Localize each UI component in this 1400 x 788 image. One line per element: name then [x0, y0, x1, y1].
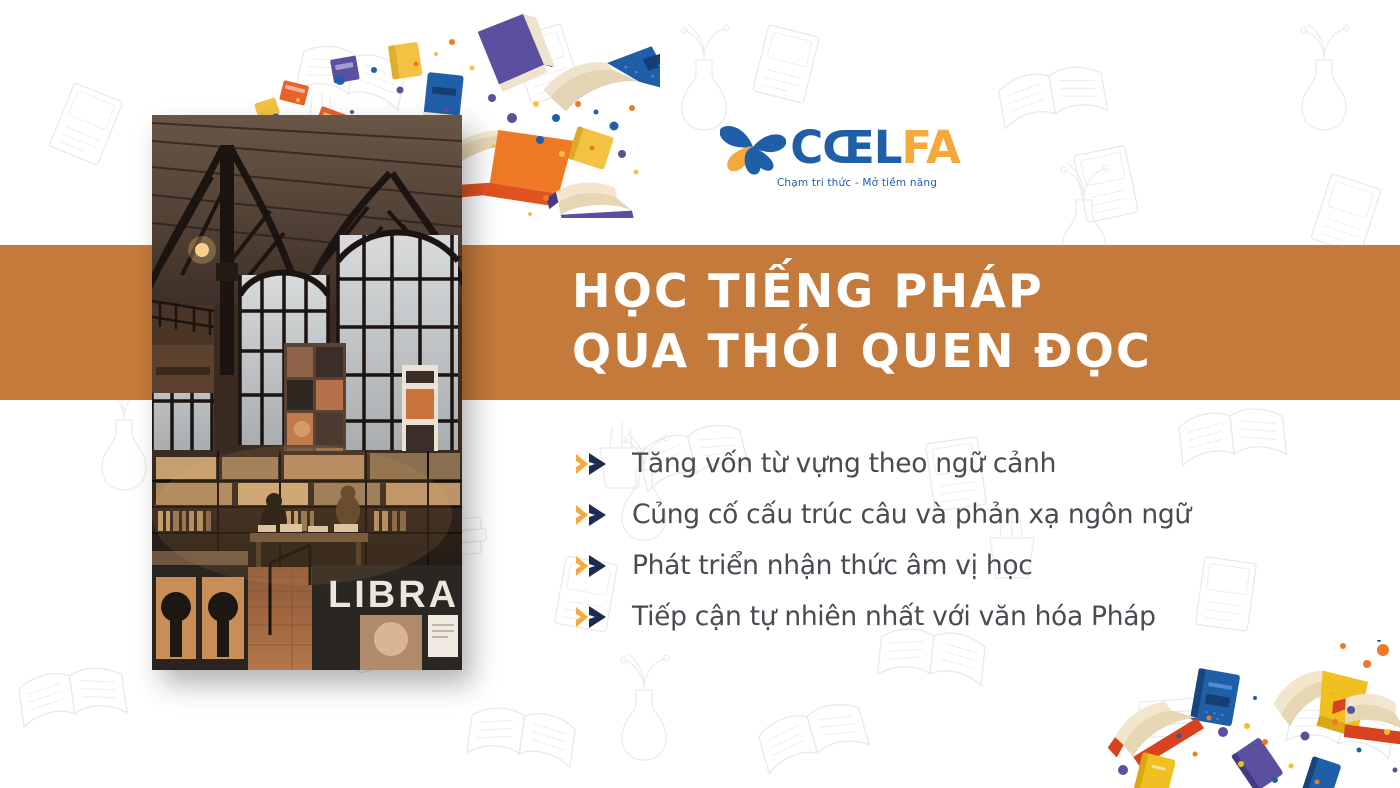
logo-tagline: Chạm tri thức - Mở tiềm năng: [777, 177, 937, 189]
celfa-logo[interactable]: CŒLFA Chạm tri thức - Mở tiềm năng: [730, 118, 950, 196]
double-chevron-right-icon: [574, 501, 614, 529]
list-item: Tăng vốn từ vựng theo ngữ cảnh: [574, 448, 1191, 479]
list-item-label: Tiếp cận tự nhiên nhất với văn hóa Pháp: [632, 601, 1156, 632]
pinwheel-flower-icon: [720, 118, 786, 176]
double-chevron-right-icon: [574, 552, 614, 580]
list-item: Tiếp cận tự nhiên nhất với văn hóa Pháp: [574, 601, 1191, 632]
flying-books-bottom-decoration: [1095, 640, 1400, 788]
logo-row: CŒLFA: [720, 118, 960, 176]
logo-wordmark: CŒLFA: [790, 125, 960, 170]
logo-text-primary: CŒL: [790, 125, 901, 170]
benefits-list: Tăng vốn từ vựng theo ngữ cảnh Củng cố c…: [574, 448, 1191, 632]
list-item-label: Phát triển nhận thức âm vị học: [632, 550, 1033, 581]
list-item-label: Củng cố cấu trúc câu và phản xạ ngôn ngữ: [632, 499, 1191, 530]
list-item: Củng cố cấu trúc câu và phản xạ ngôn ngữ: [574, 499, 1191, 530]
double-chevron-right-icon: [574, 450, 614, 478]
list-item: Phát triển nhận thức âm vị học: [574, 550, 1191, 581]
double-chevron-right-icon: [574, 603, 614, 631]
headline-line-1: HỌC TIẾNG PHÁP: [572, 262, 1152, 322]
headline-line-2: QUA THÓI QUEN ĐỌC: [572, 322, 1152, 382]
logo-text-secondary: FA: [901, 125, 959, 170]
banner-canvas: LIBRA: [0, 0, 1400, 788]
library-photo: LIBRA: [152, 115, 462, 670]
page-title: HỌC TIẾNG PHÁP QUA THÓI QUEN ĐỌC: [572, 262, 1152, 382]
list-item-label: Tăng vốn từ vựng theo ngữ cảnh: [632, 448, 1056, 479]
